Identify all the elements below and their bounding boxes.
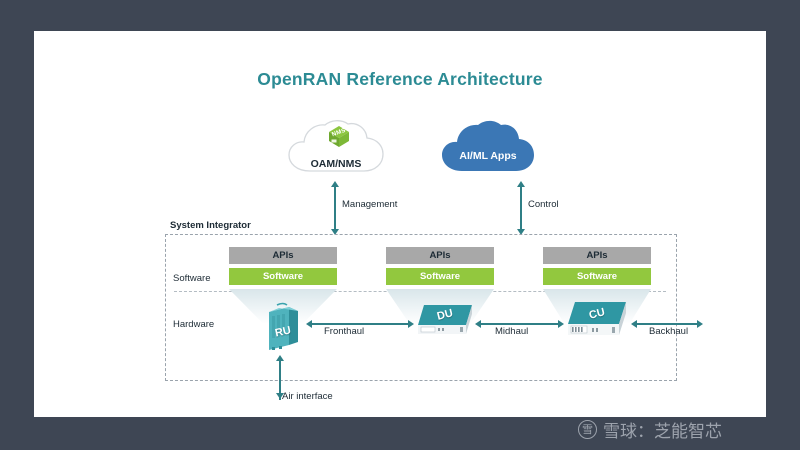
row-label-hardware: Hardware — [173, 319, 214, 330]
software-bar-cu[interactable]: Software — [543, 268, 651, 285]
software-bar-du[interactable]: Software — [386, 268, 494, 285]
device-ru[interactable]: RU — [263, 302, 303, 352]
apis-bar-cu[interactable]: APIs — [543, 247, 651, 264]
apis-bar-du[interactable]: APIs — [386, 247, 494, 264]
midhaul-line — [481, 323, 560, 325]
screenshot-root: OpenRAN Reference Architecture NMS OAM/N… — [0, 0, 800, 450]
midhaul-arrow-right-icon — [558, 320, 564, 328]
software-bar-ru[interactable]: Software — [229, 268, 337, 285]
air-interface-arrow-up-icon — [276, 355, 284, 361]
apis-bar-ru[interactable]: APIs — [229, 247, 337, 264]
link-label-control: Control — [528, 199, 559, 210]
device-du[interactable]: DU — [414, 301, 476, 345]
cloud-label-oam-nms: OAM/NMS — [286, 158, 386, 170]
cloud-oam-nms: NMS OAM/NMS — [286, 119, 386, 177]
cloud-ai-ml-apps: AI/ML Apps — [438, 119, 538, 175]
stack-du: APIs Software — [386, 247, 494, 285]
control-line — [520, 186, 522, 231]
row-label-software: Software — [173, 273, 211, 284]
device-cu[interactable]: CU — [562, 299, 632, 347]
fronthaul-line — [312, 323, 410, 325]
watermark-logo-icon: 雪 — [578, 420, 597, 439]
link-label-fronthaul: Fronthaul — [324, 326, 364, 337]
stack-ru: APIs Software — [229, 247, 337, 285]
backhaul-arrow-right-icon — [697, 320, 703, 328]
stack-cu: APIs Software — [543, 247, 651, 285]
cloud-label-ai-ml-apps: AI/ML Apps — [438, 150, 538, 162]
management-line — [334, 186, 336, 231]
fronthaul-arrow-right-icon — [408, 320, 414, 328]
backhaul-line — [637, 323, 699, 325]
link-label-backhaul: Backhaul — [649, 326, 688, 337]
cloud-shape-blue-icon — [438, 119, 538, 175]
link-label-midhaul: Midhaul — [495, 326, 528, 337]
watermark: 雪 雪球：芝能智芯 — [578, 417, 722, 442]
nms-box-icon: NMS — [326, 123, 352, 149]
watermark-text: 雪球：芝能智芯 — [603, 417, 722, 442]
slide-panel: OpenRAN Reference Architecture NMS OAM/N… — [34, 31, 766, 417]
system-integrator-label: System Integrator — [170, 220, 251, 231]
link-label-air-interface: Air interface — [282, 391, 333, 402]
page-title: OpenRAN Reference Architecture — [34, 69, 766, 90]
link-label-management: Management — [342, 199, 397, 210]
